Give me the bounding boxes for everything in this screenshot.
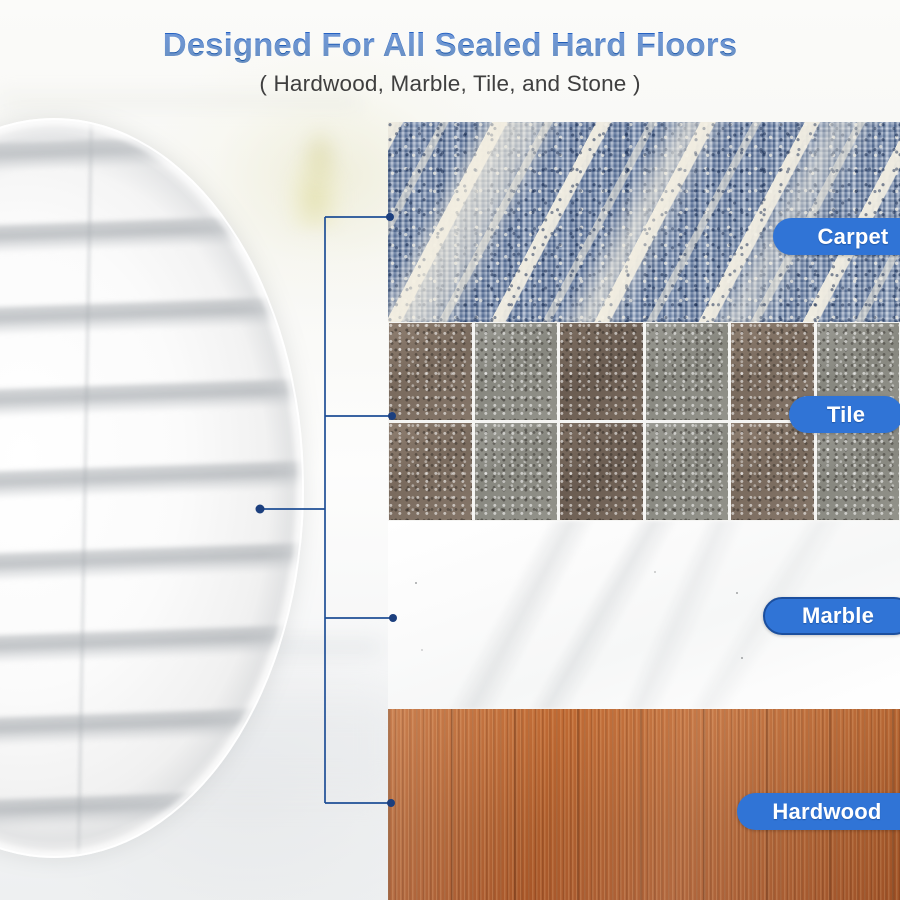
tile-cell: [560, 323, 643, 420]
marble-speck: [654, 571, 656, 573]
tile-cell: [389, 323, 472, 420]
header: Designed For All Sealed Hard Floors ( Ha…: [0, 0, 900, 97]
label-badge-hardwood-text: Hardwood: [772, 799, 881, 825]
tile-cell: [475, 423, 558, 520]
product-infographic: Designed For All Sealed Hard Floors ( Ha…: [0, 0, 900, 900]
tile-cell: [475, 323, 558, 420]
marble-speck: [415, 582, 417, 584]
label-badge-tile-text: Tile: [827, 402, 865, 428]
page-subtitle: ( Hardwood, Marble, Tile, and Stone ): [0, 71, 900, 97]
label-badge-marble[interactable]: Marble: [763, 597, 900, 635]
label-badge-carpet-text: Carpet: [818, 224, 889, 250]
marble-speck: [421, 649, 423, 651]
tile-cell: [646, 423, 729, 520]
tile-cell: [389, 423, 472, 520]
label-badge-tile[interactable]: Tile: [789, 396, 900, 433]
label-badge-carpet[interactable]: Carpet: [773, 218, 900, 255]
tile-cell: [646, 323, 729, 420]
label-badge-hardwood[interactable]: Hardwood: [737, 793, 900, 830]
label-badge-marble-text: Marble: [802, 603, 874, 629]
background-plant-blur: [300, 126, 340, 186]
mop-pad-image: [0, 118, 304, 858]
tile-cell: [560, 423, 643, 520]
page-title: Designed For All Sealed Hard Floors: [0, 0, 900, 64]
background-blur-streak: [0, 96, 360, 106]
marble-speck: [741, 657, 743, 659]
tile-cell: [731, 423, 814, 520]
marble-speck: [736, 592, 738, 594]
tile-cell: [817, 423, 900, 520]
